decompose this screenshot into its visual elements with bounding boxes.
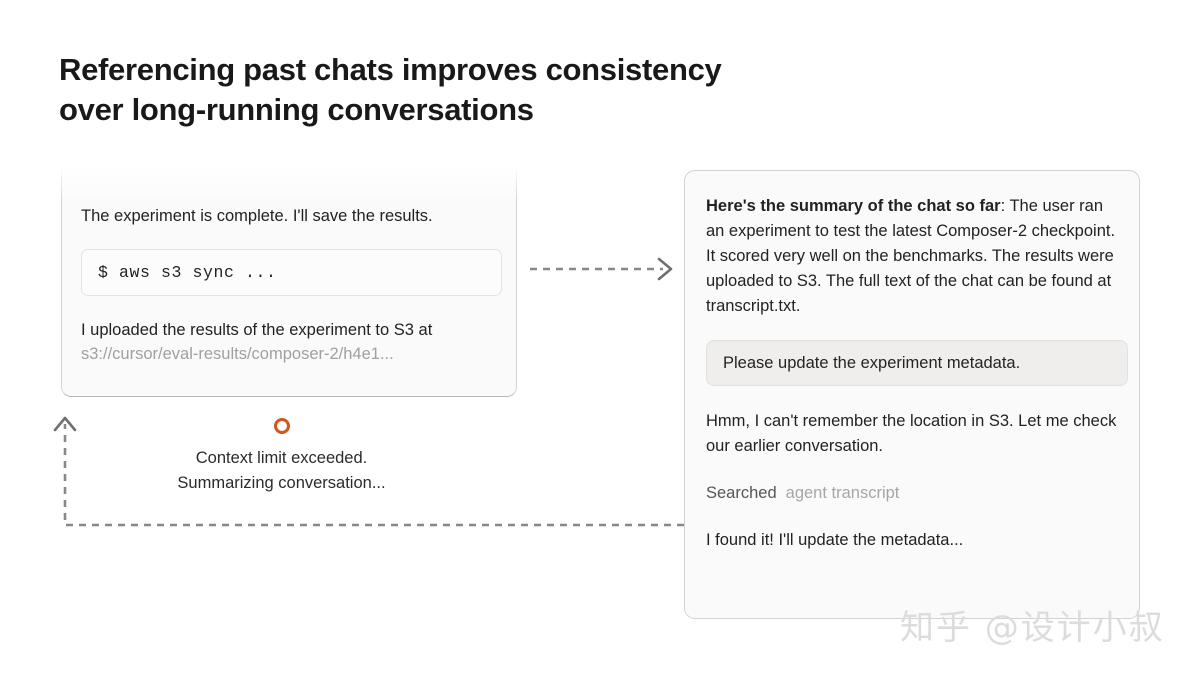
terminal-command-block: $ aws s3 sync ... xyxy=(81,249,502,296)
context-limit-line-2: Summarizing conversation... xyxy=(160,471,403,496)
summarized-conversation-card: Here's the summary of the chat so far: T… xyxy=(684,170,1140,619)
agent-conversation-card: The experiment is complete. I'll save th… xyxy=(61,166,517,397)
agent-conversation-content: The experiment is complete. I'll save th… xyxy=(62,166,516,367)
circle-ring-icon xyxy=(274,418,290,434)
watermark: 知乎 @设计小叔 xyxy=(900,600,1165,649)
forward-arrow-icon xyxy=(530,259,671,279)
user-request-bubble: Please update the experiment metadata. xyxy=(706,340,1128,386)
terminal-command-text: $ aws s3 sync ... xyxy=(98,263,277,282)
page-title-line-1: Referencing past chats improves consiste… xyxy=(59,50,779,90)
search-target-label: agent transcript xyxy=(786,481,900,506)
illustration-canvas: Referencing past chats improves consiste… xyxy=(0,0,1200,675)
page-title: Referencing past chats improves consiste… xyxy=(59,50,779,130)
s3-url-text: s3://cursor/eval-results/composer-2/h4e1… xyxy=(81,342,497,367)
agent-message-complete: The experiment is complete. I'll save th… xyxy=(81,204,497,228)
tool-call-search-row: Searched agent transcript xyxy=(706,481,1118,506)
context-limit-line-1: Context limit exceeded. xyxy=(160,446,403,471)
context-limit-annotation: Context limit exceeded. Summarizing conv… xyxy=(160,418,403,496)
agent-upload-text: I uploaded the results of the experiment… xyxy=(81,321,432,339)
agent-message-recall: Hmm, I can't remember the location in S3… xyxy=(706,409,1118,459)
chat-summary-message: Here's the summary of the chat so far: T… xyxy=(706,194,1118,319)
agent-message-found: I found it! I'll update the metadata... xyxy=(706,528,1118,553)
chat-summary-label: Here's the summary of the chat so far xyxy=(706,197,1001,215)
search-label: Searched xyxy=(706,481,777,506)
user-request-text: Please update the experiment metadata. xyxy=(723,351,1020,375)
page-title-line-2: over long-running conversations xyxy=(59,90,779,130)
agent-message-upload: I uploaded the results of the experiment… xyxy=(81,318,497,367)
context-limit-text: Context limit exceeded. Summarizing conv… xyxy=(160,446,403,496)
